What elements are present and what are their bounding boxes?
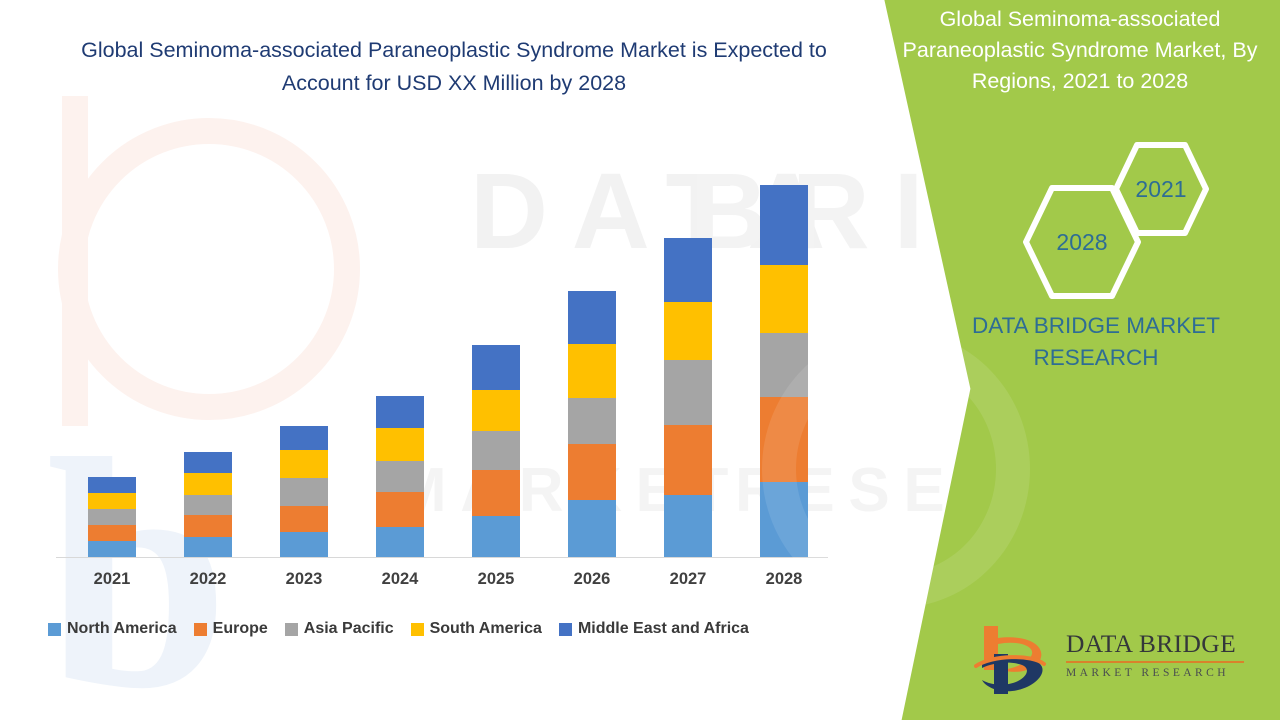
bar-segment xyxy=(184,495,232,515)
x-axis-label: 2027 xyxy=(643,570,733,589)
bar-segment xyxy=(760,265,808,333)
bar-segment xyxy=(280,426,328,450)
bar-segment xyxy=(472,431,520,470)
legend-label: Europe xyxy=(213,620,268,638)
legend-label: Middle East and Africa xyxy=(578,620,749,638)
bar-segment xyxy=(376,396,424,428)
bar-segment xyxy=(280,532,328,557)
bar-column xyxy=(664,238,712,557)
brand-panel-background xyxy=(850,0,1280,720)
x-axis-label: 2028 xyxy=(739,570,829,589)
bar-segment xyxy=(568,344,616,398)
legend-item[interactable]: Europe xyxy=(194,620,268,638)
bar-segment xyxy=(568,500,616,557)
bar-column xyxy=(184,452,232,557)
legend-swatch-icon xyxy=(48,623,61,636)
legend-label: Asia Pacific xyxy=(304,620,394,638)
legend-item[interactable]: North America xyxy=(48,620,177,638)
bar-segment xyxy=(568,291,616,344)
bar-segment xyxy=(280,478,328,506)
bar-column xyxy=(760,185,808,557)
panel-title: Global Seminoma-associated Paraneoplasti… xyxy=(880,4,1280,97)
infographic-canvas: b DATA BRIDGE MARKET RESEARCH Global Sem… xyxy=(0,0,1280,720)
bar-segment xyxy=(664,495,712,557)
hexagon-2028-label: 2028 xyxy=(1056,229,1107,256)
bar-segment xyxy=(184,473,232,495)
x-axis-label: 2024 xyxy=(355,570,445,589)
legend-item[interactable]: Middle East and Africa xyxy=(559,620,749,638)
bar-segment xyxy=(664,425,712,495)
bar-segment xyxy=(472,516,520,557)
bar-segment xyxy=(472,470,520,516)
bar-segment xyxy=(664,302,712,360)
bar-segment xyxy=(376,492,424,527)
bar-segment xyxy=(664,238,712,302)
legend-label: North America xyxy=(67,620,177,638)
bar-segment xyxy=(376,428,424,461)
bar-column xyxy=(280,426,328,557)
legend-item[interactable]: South America xyxy=(411,620,542,638)
bar-segment xyxy=(568,398,616,444)
bar-segment xyxy=(472,345,520,390)
bar-segment xyxy=(280,506,328,532)
hexagon-2021: 2021 xyxy=(1112,140,1210,238)
logo-mark-icon xyxy=(974,624,1056,696)
logo-tagline: MARKET RESEARCH xyxy=(1066,666,1246,680)
chart-legend: North AmericaEuropeAsia PacificSouth Ame… xyxy=(48,617,838,641)
bar-segment xyxy=(376,461,424,492)
bar-column xyxy=(472,345,520,557)
hexagon-2021-label: 2021 xyxy=(1135,176,1186,203)
bar-segment xyxy=(760,482,808,557)
bar-segment xyxy=(88,525,136,541)
bar-column xyxy=(376,396,424,557)
hexagon-2028: 2028 xyxy=(1022,182,1142,302)
bar-segment xyxy=(184,515,232,537)
bar-segment xyxy=(184,537,232,557)
company-logo: DATA BRIDGE MARKET RESEARCH xyxy=(974,620,1244,698)
bar-segment xyxy=(760,397,808,482)
bar-segment xyxy=(760,333,808,397)
logo-divider xyxy=(1066,661,1244,663)
x-axis-label: 2022 xyxy=(163,570,253,589)
x-axis-label: 2026 xyxy=(547,570,637,589)
x-axis-tick-labels: 20212022202320242025202620272028 xyxy=(56,570,828,596)
legend-swatch-icon xyxy=(194,623,207,636)
brand-name-line-2: RESEARCH xyxy=(926,342,1266,374)
bar-segment xyxy=(88,477,136,493)
logo-text-block: DATA BRIDGE MARKET RESEARCH xyxy=(1066,630,1246,680)
legend-swatch-icon xyxy=(559,623,572,636)
brand-name-line-1: DATA BRIDGE MARKET xyxy=(926,310,1266,342)
bar-column xyxy=(568,291,616,557)
bar-column xyxy=(88,477,136,557)
bar-segment xyxy=(376,527,424,557)
bar-segment xyxy=(88,541,136,557)
bar-segment xyxy=(664,360,712,425)
bar-segment xyxy=(88,509,136,525)
hexagon-group: 2028 2021 xyxy=(914,140,1244,300)
bar-segment xyxy=(184,452,232,473)
x-axis-label: 2023 xyxy=(259,570,349,589)
bar-segment xyxy=(472,390,520,431)
bar-segment xyxy=(88,493,136,509)
logo-title: DATA BRIDGE xyxy=(1066,630,1246,658)
x-axis-line xyxy=(56,557,828,558)
bar-segment xyxy=(760,185,808,265)
x-axis-label: 2025 xyxy=(451,570,541,589)
legend-swatch-icon xyxy=(285,623,298,636)
brand-name-block: DATA BRIDGE MARKET RESEARCH xyxy=(926,310,1266,374)
legend-item[interactable]: Asia Pacific xyxy=(285,620,394,638)
legend-label: South America xyxy=(430,620,542,638)
bar-segment xyxy=(568,444,616,500)
bar-chart-plot xyxy=(56,120,828,557)
x-axis-label: 2021 xyxy=(67,570,157,589)
legend-swatch-icon xyxy=(411,623,424,636)
chart-title: Global Seminoma-associated Paraneoplasti… xyxy=(64,34,844,100)
bar-segment xyxy=(280,450,328,478)
